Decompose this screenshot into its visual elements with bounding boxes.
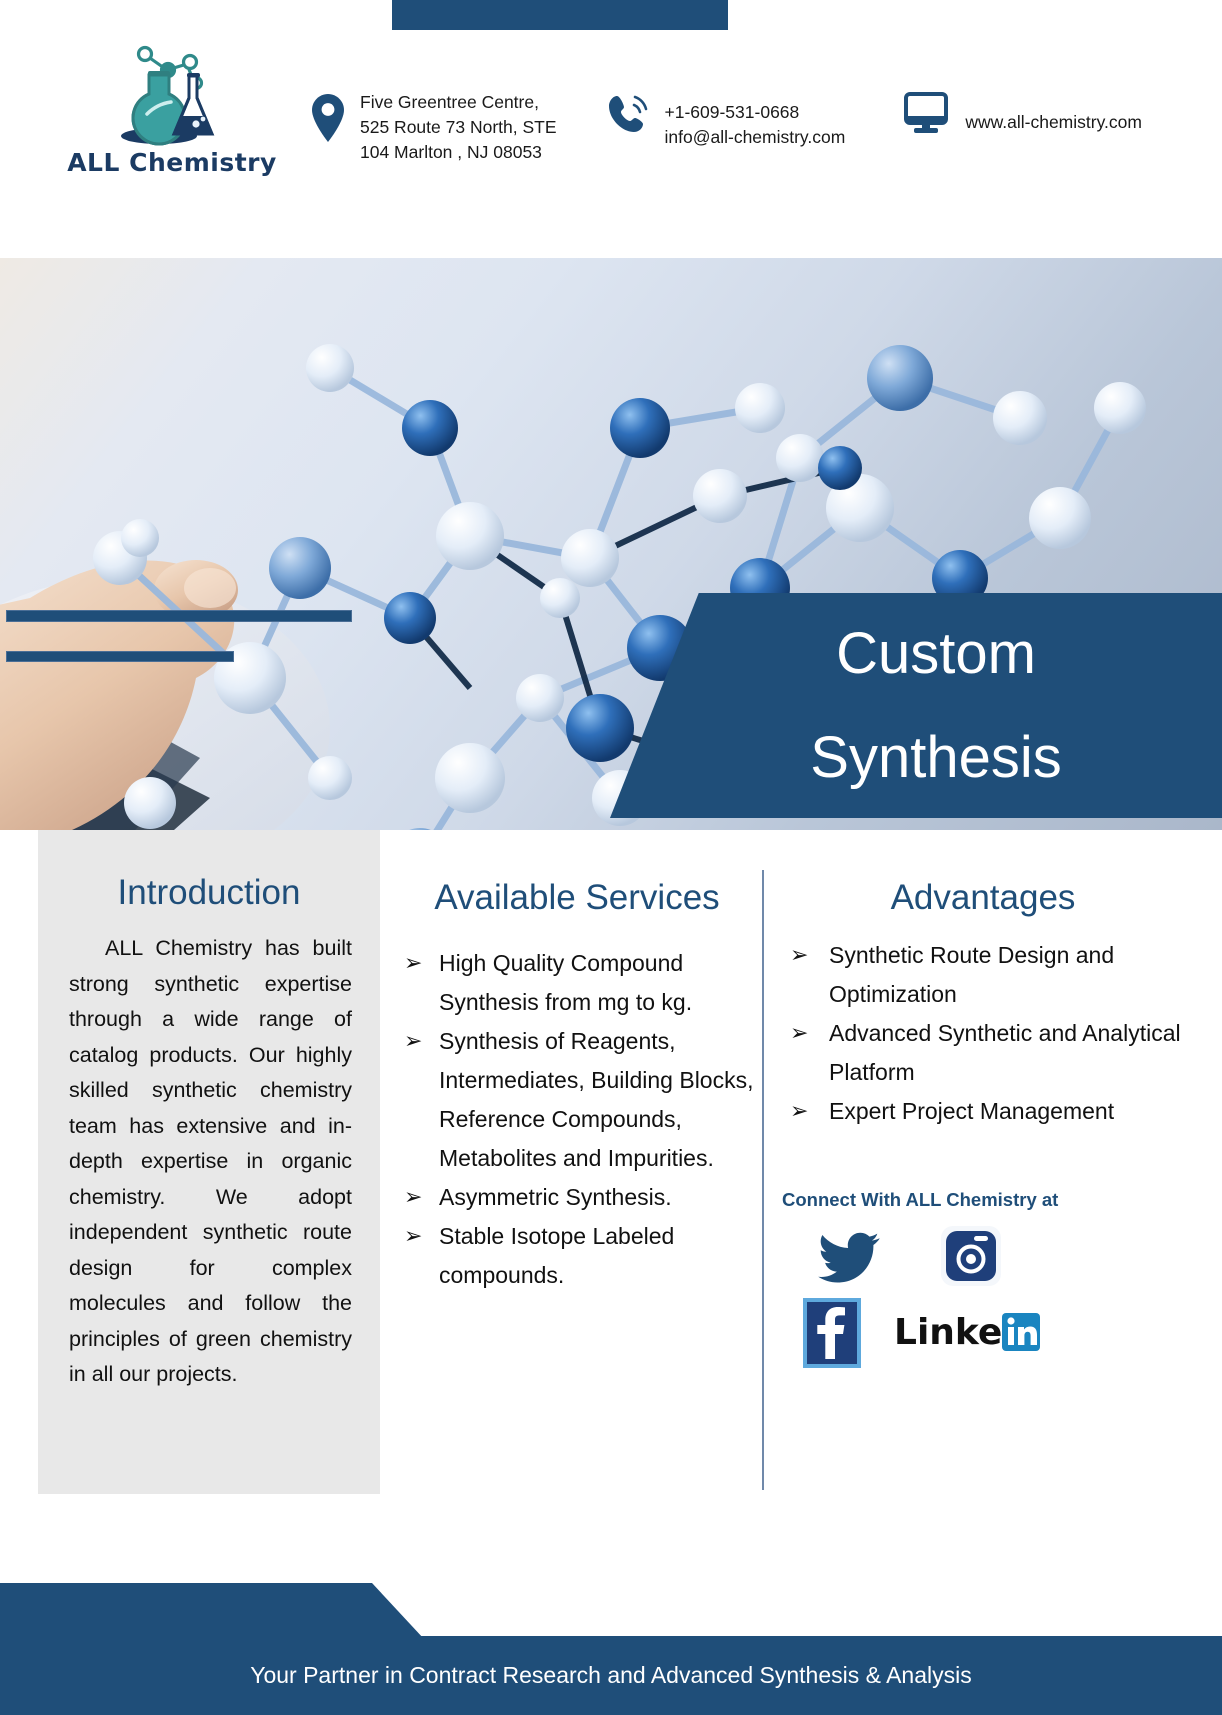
address-line-3: 104 Marlton , NJ 08053 [360, 142, 542, 162]
list-item: ➢ Advanced Synthetic and Analytical Plat… [782, 1014, 1184, 1092]
advantage-text: Synthetic Route Design and Optimization [829, 942, 1114, 1007]
advantage-text: Expert Project Management [829, 1098, 1114, 1124]
email-address: info@all-chemistry.com [665, 127, 846, 147]
footer-angled-wing [0, 1583, 424, 1639]
phone-number: +1-609-531-0668 [665, 102, 800, 122]
service-text: High Quality Compound Synthesis from mg … [439, 950, 692, 1015]
content-columns: Introduction ALL Chemistry has built str… [0, 830, 1222, 1555]
phone-icon [607, 92, 649, 136]
connect-label: Connect With ALL Chemistry at [782, 1189, 1184, 1211]
linkedin-icon[interactable]: Linked [894, 1309, 1042, 1360]
service-text: Asymmetric Synthesis. [439, 1184, 672, 1210]
header-contact-row: Five Greentree Centre, 525 Route 73 Nort… [310, 92, 1210, 182]
contact-phone-email[interactable]: +1-609-531-0668 info@all-chemistry.com [607, 92, 846, 150]
address-text: Five Greentree Centre, 525 Route 73 Nort… [360, 90, 557, 165]
advantages-list: ➢ Synthetic Route Design and Optimizatio… [782, 918, 1184, 1131]
brand-name: ALL Chemistry [67, 148, 277, 177]
services-list: ➢ High Quality Compound Synthesis from m… [396, 918, 758, 1295]
introduction-heading: Introduction [38, 830, 380, 913]
flyer-page: ALL Chemistry Five Greentree Centre, 525… [0, 0, 1222, 1715]
list-item: ➢ Synthetic Route Design and Optimizatio… [782, 936, 1184, 1014]
arrow-bullet-icon: ➢ [404, 944, 422, 983]
list-item: ➢ Synthesis of Reagents, Intermediates, … [396, 1022, 758, 1178]
list-item: ➢ Expert Project Management [782, 1092, 1184, 1131]
introduction-panel: Introduction ALL Chemistry has built str… [38, 830, 380, 1494]
social-links: Linked [782, 1231, 1072, 1359]
advantages-panel: Advantages ➢ Synthetic Route Design and … [782, 830, 1184, 1520]
website-url: www.all-chemistry.com [965, 110, 1142, 135]
services-heading: Available Services [396, 830, 758, 918]
introduction-body: ALL Chemistry has built strong synthetic… [38, 913, 380, 1393]
contact-address[interactable]: Five Greentree Centre, 525 Route 73 Nort… [310, 92, 557, 165]
phone-email-text: +1-609-531-0668 info@all-chemistry.com [665, 100, 846, 150]
map-pin-icon [310, 92, 346, 144]
address-line-2: 525 Route 73 North, STE [360, 117, 557, 137]
footer-tagline: Your Partner in Contract Research and Ad… [0, 1636, 1222, 1715]
arrow-bullet-icon: ➢ [790, 1092, 808, 1131]
column-divider [762, 870, 764, 1490]
list-item: ➢ High Quality Compound Synthesis from m… [396, 944, 758, 1022]
arrow-bullet-icon: ➢ [790, 1014, 808, 1053]
advantage-text: Advanced Synthetic and Analytical Platfo… [829, 1020, 1181, 1085]
arrow-bullet-icon: ➢ [404, 1022, 422, 1061]
service-text: Stable Isotope Labeled compounds. [439, 1223, 674, 1288]
monitor-icon [903, 92, 949, 136]
instagram-icon[interactable] [940, 1225, 1002, 1292]
list-item: ➢ Stable Isotope Labeled compounds. [396, 1217, 758, 1295]
hero-title-banner: Custom Synthesis [610, 593, 1222, 818]
services-panel: Available Services ➢ High Quality Compou… [396, 830, 758, 1520]
advantages-heading: Advantages [782, 830, 1184, 918]
arrow-bullet-icon: ➢ [404, 1178, 422, 1217]
twitter-icon[interactable] [818, 1231, 880, 1290]
address-line-1: Five Greentree Centre, [360, 92, 539, 112]
hero-banner: Custom Synthesis [0, 258, 1222, 830]
hero-title-line-2: Synthesis [810, 719, 1061, 797]
facebook-icon[interactable] [802, 1297, 862, 1374]
hero-decor-line-1 [6, 610, 352, 622]
brand-logo[interactable]: ALL Chemistry [62, 42, 282, 187]
page-header: ALL Chemistry Five Greentree Centre, 525… [0, 30, 1222, 258]
arrow-bullet-icon: ➢ [404, 1217, 422, 1256]
list-item: ➢ Asymmetric Synthesis. [396, 1178, 758, 1217]
contact-website[interactable]: www.all-chemistry.com [903, 92, 1142, 136]
service-text: Synthesis of Reagents, Intermediates, Bu… [439, 1028, 754, 1171]
arrow-bullet-icon: ➢ [790, 936, 808, 975]
hero-decor-line-2 [6, 651, 234, 662]
top-accent-bar [392, 0, 728, 30]
hero-title-line-1: Custom [836, 615, 1036, 693]
chemistry-flasks-icon [97, 42, 247, 150]
